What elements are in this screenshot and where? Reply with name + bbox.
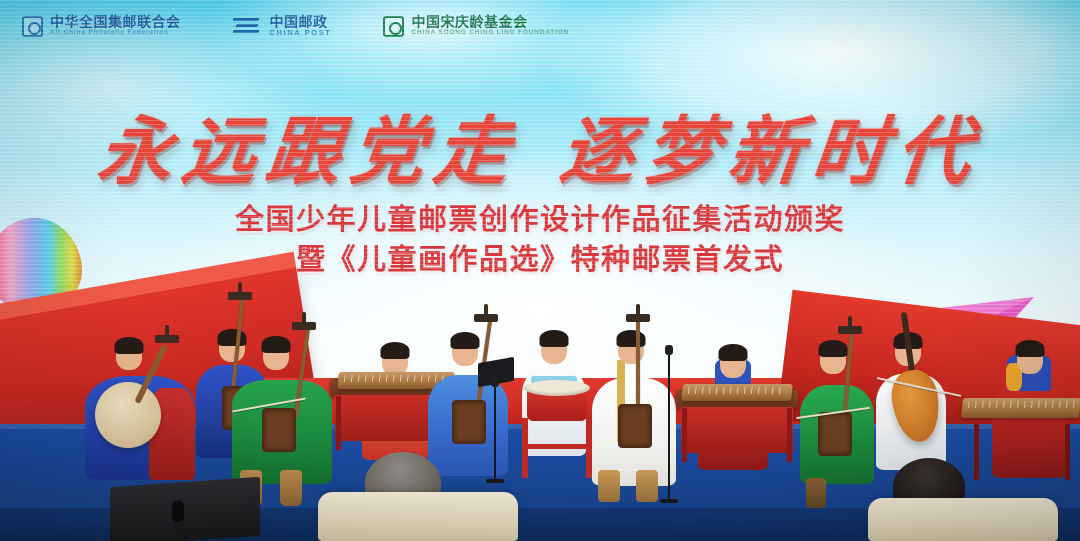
performer-boot: [806, 478, 826, 508]
morin-khuur-body: [618, 404, 652, 448]
logo-name-en: CHINA SOONG CHING LING FOUNDATION: [411, 30, 568, 37]
morin-khuur-body: [818, 412, 852, 456]
morin-khuur-scroll: [474, 314, 498, 322]
morin-khuur-body: [452, 400, 486, 444]
logo-name-cn: 中国宋庆龄基金会: [411, 15, 568, 30]
performer-boot: [636, 470, 658, 502]
morin-khuur-scroll: [838, 326, 862, 334]
main-title-part-2: 逐梦新时代: [556, 92, 987, 199]
event-subtitle-line-1: 全国少年儿童邮票创作设计作品征集活动颁奖: [0, 196, 1080, 238]
logo-soong-ching-ling-foundation: 中国宋庆龄基金会 CHINA SOONG CHING LING FOUNDATI…: [383, 15, 568, 37]
music-stand-pole: [494, 384, 496, 480]
event-photograph: 中华全国集邮联合会 All-China Philatelic Federatio…: [0, 0, 1080, 541]
morin-khuur-scroll: [228, 292, 252, 300]
morin-khuur-scroll: [626, 314, 650, 322]
yangqin-instrument: [681, 384, 793, 401]
logo-name-cn: 中国邮政: [270, 15, 332, 30]
morin-khuur-scroll: [292, 322, 316, 330]
morin-khuur-neck: [636, 318, 640, 410]
audience-chair-back: [868, 498, 1058, 541]
instrument-scroll: [155, 335, 179, 343]
logo-name-cn: 中华全国集邮联合会: [50, 15, 181, 30]
logo-name-en: All-China Philatelic Federation: [50, 30, 181, 37]
drum-head: [524, 380, 590, 396]
performer-boot: [598, 470, 620, 502]
performer-boot: [280, 470, 302, 506]
stage-monitor-speaker: [110, 477, 260, 541]
main-title-part-1: 永远跟党走: [93, 92, 524, 199]
ruan-instrument: [95, 382, 161, 448]
sponsor-logo-bar: 中华全国集邮联合会 All-China Philatelic Federatio…: [0, 0, 1080, 52]
event-subtitle-line-2: 暨《儿童画作品选》特种邮票首发式: [0, 236, 1080, 278]
microphone-stand: [668, 352, 670, 500]
guzheng-stand: [968, 416, 1076, 480]
event-main-title: 永远跟党走 逐梦新时代: [0, 92, 1080, 199]
drum-stand: [520, 418, 594, 480]
china-post-emblem-icon: [233, 16, 263, 36]
philatelic-federation-emblem-icon: [22, 16, 43, 37]
morin-khuur-body: [262, 408, 296, 452]
logo-name-en: CHINA POST: [270, 29, 332, 37]
guzheng-instrument: [961, 398, 1080, 418]
soong-ching-ling-emblem-icon: [383, 16, 404, 37]
logo-all-china-philatelic-federation: 中华全国集邮联合会 All-China Philatelic Federatio…: [22, 15, 181, 37]
logo-china-post: 中国邮政 CHINA POST: [233, 15, 332, 38]
audience-chair-back: [318, 492, 518, 541]
